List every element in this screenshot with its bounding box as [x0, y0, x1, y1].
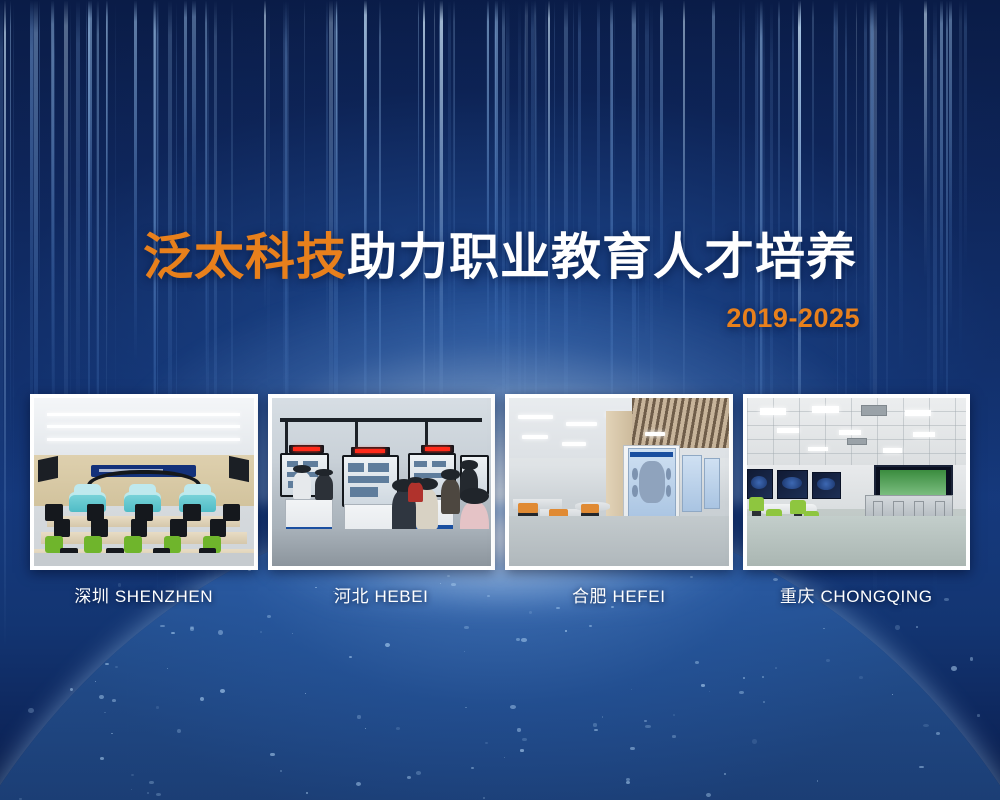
light-streak: [283, 0, 287, 435]
page-title: 泛太科技助力职业教育人才培养: [0, 228, 1000, 287]
ac-vent-2: [847, 438, 867, 445]
light-streak: [267, 0, 270, 439]
light-streak: [546, 0, 547, 445]
caption-hebei: 河北 HEBEI: [268, 582, 496, 612]
ceiling-light-5: [839, 430, 861, 435]
subtitle-year-range: 2019-2025: [0, 303, 860, 334]
gallery-captions: 深圳 SHENZHEN 河北 HEBEI 合肥 HEFEI 重庆 CHONGQI…: [30, 582, 970, 612]
light-streak: [940, 0, 943, 393]
ceiling-lamp-3: [522, 435, 548, 439]
light-streak: [336, 0, 337, 267]
gallery-card-hefei[interactable]: [505, 394, 733, 570]
ceiling-light-7: [808, 447, 828, 451]
caption-hefei: 合肥 HEFEI: [505, 582, 733, 612]
photo-automotive-display-lab: [509, 398, 729, 566]
gallery-card-chongqing[interactable]: [743, 394, 971, 570]
light-streak: [423, 0, 426, 446]
ceiling-region: [34, 398, 254, 455]
floor-region: [272, 529, 492, 566]
ceiling-light-3: [905, 410, 931, 417]
student-5: [408, 482, 423, 502]
ceiling-light-8: [883, 448, 903, 452]
monitor-row0-e: [223, 504, 241, 521]
caption-chongqing: 重庆 CHONGQING: [743, 582, 971, 612]
ceiling-lamp-4: [562, 442, 586, 446]
student-2: [315, 475, 333, 500]
light-streak: [153, 0, 155, 403]
student-6: [441, 479, 461, 514]
particle-dot: [916, 626, 918, 628]
light-streak: [434, 0, 436, 397]
light-streak: [534, 0, 536, 265]
monitor-row1-a: [54, 519, 70, 537]
monitor-row1-c: [131, 519, 147, 537]
particle-dot: [951, 666, 957, 671]
poster-stage: 泛太科技助力职业教育人才培养 2019-2025: [0, 0, 1000, 800]
chair-green-1: [749, 497, 764, 510]
wall-display-1: [747, 469, 773, 499]
light-streak: [51, 0, 54, 403]
ceiling-light-4: [777, 428, 799, 433]
light-streak: [364, 0, 366, 435]
ac-vent-1: [861, 405, 887, 417]
student-1: [293, 472, 311, 499]
wall-display-2: [777, 470, 808, 499]
title-rest-text: 助力职业教育人才培养: [347, 229, 857, 285]
slatted-ceiling: [632, 398, 729, 448]
particle-dot: [895, 625, 900, 629]
trainer-panel-2: [342, 455, 399, 507]
monitor-row1-d: [170, 519, 186, 537]
display-panel-3: [704, 458, 719, 508]
gallery-card-hebei[interactable]: [268, 394, 496, 570]
light-streak: [10, 0, 12, 443]
light-streak: [439, 0, 440, 451]
light-streak: [632, 0, 636, 411]
chair-green-b: [84, 536, 102, 553]
monitor-row1-e: [210, 519, 226, 537]
cabinet-display-panel: [628, 448, 676, 522]
photo-gallery: [30, 394, 970, 570]
light-streak: [440, 0, 443, 423]
gallery-card-shenzhen[interactable]: [30, 394, 258, 570]
title-block: 泛太科技助力职业教育人才培养 2019-2025: [0, 228, 1000, 334]
particle-dot: [977, 714, 981, 717]
speaker-right: [229, 456, 249, 482]
led-display-1: [289, 445, 324, 453]
display-panel-2: [682, 455, 702, 512]
floor-region: [747, 516, 967, 566]
ceiling-lamp-2: [566, 422, 597, 426]
photo-electrical-training-bench: [272, 398, 492, 566]
chair-green-c: [124, 536, 142, 553]
monitor-row1-b: [91, 519, 107, 537]
ceiling-light-1: [760, 408, 786, 415]
photo-smart-vehicle-classroom: [34, 398, 254, 566]
wall-display-3: [812, 472, 841, 499]
monitor-row0-d: [183, 504, 201, 521]
light-streak: [683, 0, 686, 428]
floor-region: [509, 516, 729, 566]
title-brand-text: 泛太科技: [143, 229, 347, 285]
light-streak: [610, 0, 613, 422]
particle-dot: [970, 657, 974, 660]
overhead-frame-h: [280, 418, 482, 421]
light-streak: [76, 0, 80, 439]
photo-smart-manufacturing-lab: [747, 398, 967, 566]
led-display-3: [421, 445, 454, 453]
ceiling-lamp-6: [645, 432, 665, 436]
ceiling-light-2: [812, 406, 838, 413]
floor-region: [34, 553, 254, 566]
ceiling-lamp-1: [518, 415, 553, 419]
light-streak: [545, 0, 548, 444]
particle-dot: [70, 688, 73, 691]
light-streak: [742, 0, 745, 438]
light-streak: [870, 0, 873, 451]
particle-dot: [28, 708, 34, 713]
ceiling-light-6: [913, 432, 935, 437]
caption-shenzhen: 深圳 SHENZHEN: [30, 582, 258, 612]
light-streak: [792, 0, 794, 436]
